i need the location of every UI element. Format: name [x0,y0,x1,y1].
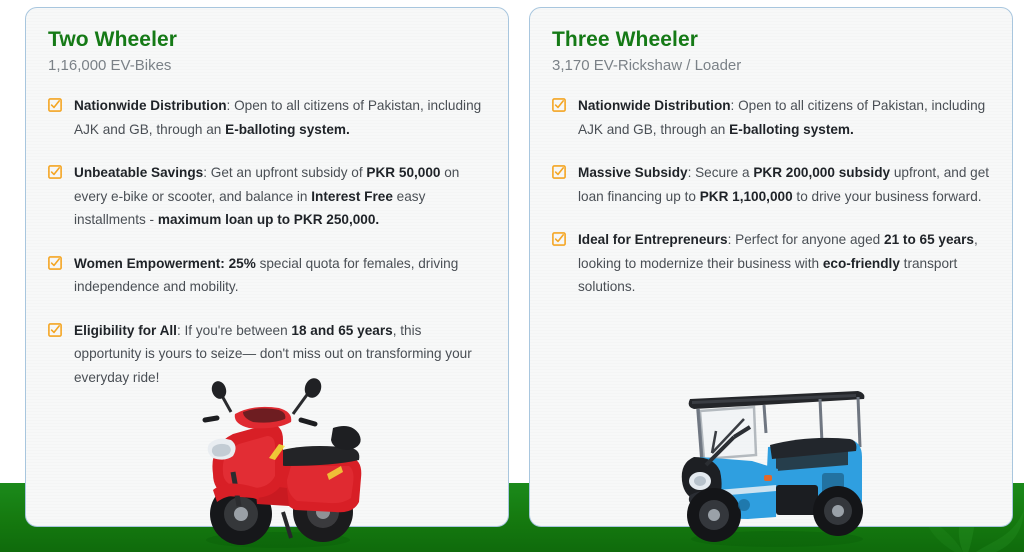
card-two-wheeler[interactable]: Two Wheeler 1,16,000 EV-Bikes Nationwide… [25,7,509,527]
feature-item: Nationwide Distribution: Open to all cit… [552,94,990,141]
card-title: Three Wheeler [552,28,990,52]
feature-text: Eligibility for All: If you're between 1… [74,319,486,390]
card-subtitle: 1,16,000 EV-Bikes [48,57,486,74]
feature-item: Women Empowerment: 25% special quota for… [48,252,486,299]
check-square-icon [552,165,566,179]
feature-item: Nationwide Distribution: Open to all cit… [48,94,486,141]
wheeler-cards-row: Two Wheeler 1,16,000 EV-Bikes Nationwide… [25,7,1013,527]
feature-text: Massive Subsidy: Secure a PKR 200,000 su… [578,161,990,208]
check-square-icon [48,98,62,112]
feature-item: Ideal for Entrepreneurs: Perfect for any… [552,228,990,299]
feature-text: Women Empowerment: 25% special quota for… [74,252,486,299]
feature-text: Unbeatable Savings: Get an upfront subsi… [74,161,486,232]
feature-item: Unbeatable Savings: Get an upfront subsi… [48,161,486,232]
check-square-icon [552,98,566,112]
check-square-icon [48,256,62,270]
card-title: Two Wheeler [48,28,486,52]
feature-text: Ideal for Entrepreneurs: Perfect for any… [578,228,990,299]
check-square-icon [552,232,566,246]
feature-item: Massive Subsidy: Secure a PKR 200,000 su… [552,161,990,208]
feature-list: Nationwide Distribution: Open to all cit… [48,94,486,389]
feature-list: Nationwide Distribution: Open to all cit… [552,94,990,299]
feature-text: Nationwide Distribution: Open to all cit… [74,94,486,141]
card-subtitle: 3,170 EV-Rickshaw / Loader [552,57,990,74]
card-three-wheeler[interactable]: Three Wheeler 3,170 EV-Rickshaw / Loader… [529,7,1013,527]
check-square-icon [48,323,62,337]
check-square-icon [48,165,62,179]
feature-item: Eligibility for All: If you're between 1… [48,319,486,390]
feature-text: Nationwide Distribution: Open to all cit… [578,94,990,141]
